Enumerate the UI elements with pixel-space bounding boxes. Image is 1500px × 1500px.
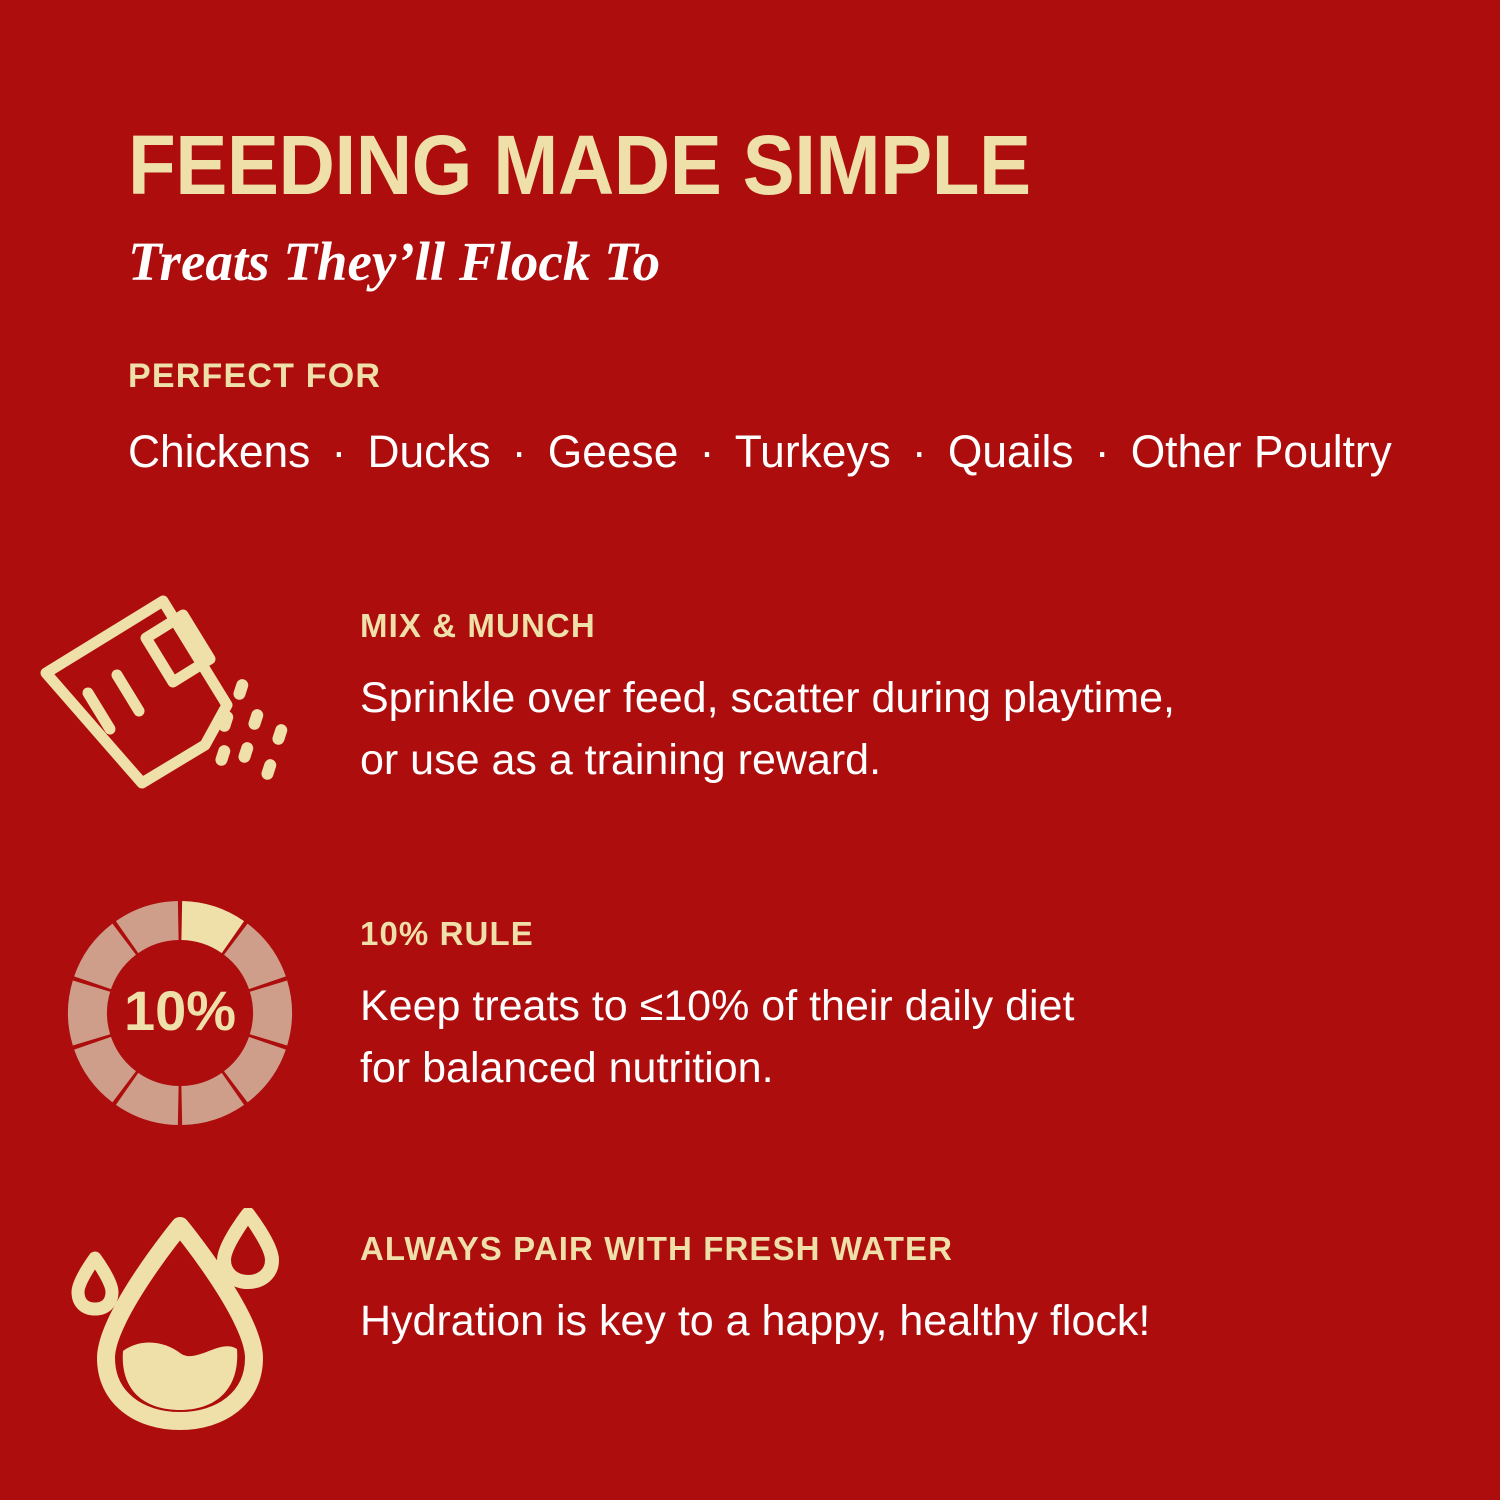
species-separator: · [503,426,536,477]
feature-icon-wrapper: 10% [0,885,360,1129]
feature-heading-fresh-water: ALWAYS PAIR WITH FRESH WATER [360,1230,1410,1268]
feature-text-wrapper: ALWAYS PAIR WITH FRESH WATER Hydration i… [360,1190,1500,1352]
feature-row-ten-percent-rule: 10% 10% RULE Keep treats to ≤10% of thei… [0,885,1500,1190]
donut-segment [68,980,110,1045]
droplet-water-fill [123,1342,237,1410]
header-block: FEEDING MADE SIMPLE Treats They’ll Flock… [128,125,1408,289]
droplet-small-left [78,1258,112,1309]
feature-body-ten-percent-rule: Keep treats to ≤10% of their daily diet … [360,975,1410,1100]
perfect-for-label: PERFECT FOR [128,357,1418,396]
feature-body-line: for balanced nutrition. [360,1037,1410,1099]
feature-heading-mix-and-munch: MIX & MUNCH [360,607,1410,645]
feature-body-line: Hydration is key to a happy, healthy flo… [360,1290,1410,1352]
page-subtitle: Treats They’ll Flock To [128,234,1408,289]
donut-segment [250,980,292,1045]
feature-body-fresh-water: Hydration is key to a happy, healthy flo… [360,1290,1410,1352]
feature-text-wrapper: MIX & MUNCH Sprinkle over feed, scatter … [360,585,1500,792]
species-separator: · [691,426,724,477]
feature-text-wrapper: 10% RULE Keep treats to ≤10% of their da… [360,885,1500,1100]
water-droplet-icon [70,1208,290,1430]
species-list: Chickens · Ducks · Geese · Turkeys · Qua… [128,426,1399,478]
species-separator: · [1086,426,1119,477]
droplet-small-right [224,1214,272,1282]
species-item-other-poultry: Other Poultry [1131,426,1392,477]
feature-heading-ten-percent-rule: 10% RULE [360,915,1410,953]
feature-icon-wrapper [0,585,360,808]
species-separator: · [323,426,356,477]
species-separator: · [903,426,936,477]
feature-list: MIX & MUNCH Sprinkle over feed, scatter … [0,585,1500,1490]
perfect-for-block: PERFECT FOR Chickens · Ducks · Geese · T… [128,357,1418,478]
feature-body-line: Sprinkle over feed, scatter during playt… [360,667,1410,729]
donut-center-label: 10% [124,979,236,1042]
feature-icon-wrapper [0,1190,360,1430]
species-item-chickens: Chickens [128,426,310,477]
species-item-turkeys: Turkeys [735,426,891,477]
poster-root: FEEDING MADE SIMPLE Treats They’ll Flock… [0,0,1500,1500]
feature-row-mix-and-munch: MIX & MUNCH Sprinkle over feed, scatter … [0,585,1500,885]
donut-chart-10-percent-icon: 10% [64,897,296,1129]
species-item-ducks: Ducks [367,426,490,477]
species-item-geese: Geese [548,426,679,477]
seasoning-packet-pouring-icon [35,593,325,808]
feature-body-line: Keep treats to ≤10% of their daily diet [360,975,1410,1037]
species-item-quails: Quails [948,426,1074,477]
feature-row-fresh-water: ALWAYS PAIR WITH FRESH WATER Hydration i… [0,1190,1500,1490]
page-title: FEEDING MADE SIMPLE [128,125,1318,206]
feature-body-line: or use as a training reward. [360,729,1410,791]
feature-body-mix-and-munch: Sprinkle over feed, scatter during playt… [360,667,1410,792]
